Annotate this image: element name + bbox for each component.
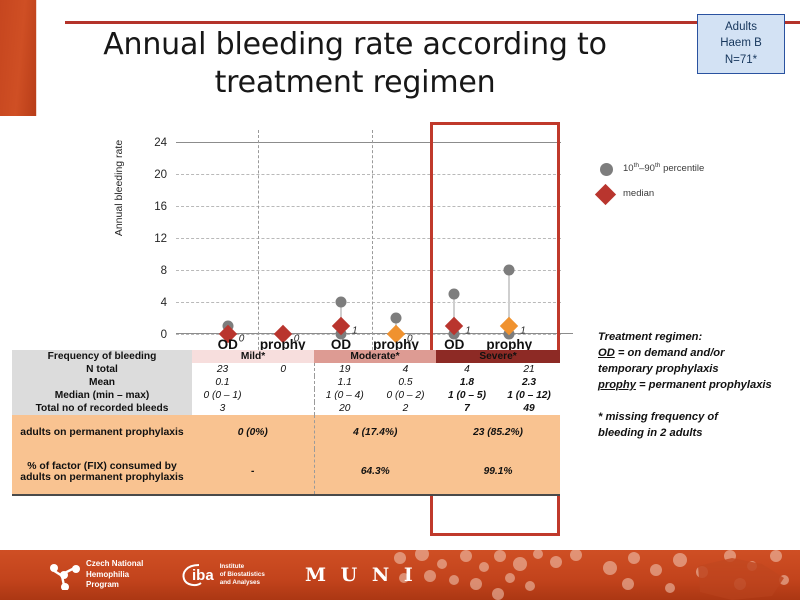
badge-line-1: Adults — [725, 20, 757, 35]
cell-mod-summary: 64.3% — [314, 449, 436, 495]
chart-median-value-label: 1 — [352, 326, 358, 337]
cell-sev-od: 1 (0 – 5) — [436, 389, 498, 402]
cell-mild-od: 23 — [192, 363, 253, 376]
table-bottom-rule — [12, 495, 560, 497]
red-diamond-icon — [595, 184, 616, 205]
row-label-mean: Mean — [12, 376, 192, 389]
logo-iba-line1: Institute — [220, 563, 265, 571]
row-label-total-bleeds: Total no of recorded bleeds — [12, 402, 192, 415]
table-header-rowlabel: Frequency of bleeding — [12, 350, 192, 363]
chart-legend: 10th–90th percentile median — [596, 160, 796, 212]
legend-label-median: median — [623, 188, 654, 199]
chart-gridline: 4 — [176, 302, 561, 303]
cell-mild-summary: 0 (0%) — [192, 415, 314, 449]
table-header-row: Frequency of bleeding Mild* Moderate* Se… — [12, 350, 560, 363]
table-summary-row: adults on permanent prophylaxis 0 (0%) 4… — [12, 415, 560, 449]
chart-median-value-label: 1 — [520, 326, 526, 337]
cohort-badge: Adults Haem B N=71* — [697, 14, 785, 74]
table-header-severe: Severe* — [436, 350, 560, 363]
logo-iba-text: Institute of Biostatistics and Analyses — [220, 563, 265, 588]
cell-mild-prophy: 0 — [253, 363, 314, 376]
chart-y-tick-label: 8 — [161, 265, 167, 277]
legend-item-median: median — [596, 186, 796, 212]
cell-mild-od: 3 — [192, 402, 253, 415]
cell-mod-od: 19 — [314, 363, 375, 376]
chart-gridline: 24 — [176, 142, 561, 143]
cell-mod-prophy: 0.5 — [375, 376, 436, 389]
cell-mod-prophy: 2 — [375, 402, 436, 415]
notes-od-def: = on demand and/or — [615, 347, 725, 359]
page-title: Annual bleeding rate according to treatm… — [60, 26, 650, 103]
notes-spacer — [598, 394, 798, 410]
cell-sev-summary: 99.1% — [436, 449, 560, 495]
cell-sev-prophy: 21 — [498, 363, 560, 376]
slide: Annual bleeding rate according to treatm… — [0, 0, 800, 600]
row-label-n-total: N total — [12, 363, 192, 376]
logo-czech-text: Czech National Hemophilia Program — [86, 559, 143, 590]
badge-line-2: Haem B — [720, 36, 762, 51]
notes-footnote-line1: * missing frequency of — [598, 410, 798, 426]
table-header-mild: Mild* — [192, 350, 314, 363]
annual-bleeding-rate-chart: Annual bleeding rate 048121620240OD0prop… — [108, 130, 578, 345]
chart-y-tick-label: 12 — [154, 233, 167, 245]
table-row: Median (min – max) 0 (0 – 1) 1 (0 – 4) 0… — [12, 389, 560, 402]
legend-label-percentile: 10th–90th percentile — [623, 162, 704, 174]
cell-mild-od: 0.1 — [192, 376, 253, 389]
cell-mild-od: 0 (0 – 1) — [192, 389, 253, 402]
cell-mod-od: 1 (0 – 4) — [314, 389, 375, 402]
cell-mod-summary: 4 (17.4%) — [314, 415, 436, 449]
logo-iba: iba Institute of Biostatistics and Analy… — [178, 550, 265, 600]
table-row: Mean 0.1 1.1 0.5 1.8 2.3 — [12, 376, 560, 389]
cell-mild-prophy — [253, 376, 314, 389]
cell-mild-prophy — [253, 389, 314, 402]
chart-percentile-dot — [391, 313, 402, 324]
legend-item-percentile: 10th–90th percentile — [596, 160, 796, 186]
chart-y-tick-label: 16 — [154, 201, 167, 213]
chart-y-axis-title: Annual bleeding rate — [113, 113, 125, 263]
cell-mod-prophy: 4 — [375, 363, 436, 376]
table-header-moderate: Moderate* — [314, 350, 436, 363]
badge-line-3: N=71* — [725, 53, 757, 68]
molecule-logo-icon — [50, 560, 80, 590]
cell-sev-od: 7 — [436, 402, 498, 415]
treatment-regimen-notes: Treatment regimen: OD = on demand and/or… — [598, 330, 798, 441]
chart-median-value-label: 1 — [465, 326, 471, 337]
row-label-factor-consumed: % of factor (FIX) consumed by adults on … — [12, 449, 192, 495]
chart-plot-area: 048121620240OD0prophy1OD0prophy1OD1proph… — [176, 142, 561, 334]
notes-heading: Treatment regimen: — [598, 330, 798, 346]
chart-percentile-dot — [449, 289, 460, 300]
table-bottom-border-row — [12, 495, 560, 497]
table-row: N total 23 0 19 4 4 21 — [12, 363, 560, 376]
notes-prophy-term: prophy — [598, 379, 636, 391]
iba-wordmark: iba — [192, 567, 214, 584]
notes-od-line: OD = on demand and/or — [598, 346, 798, 362]
table-row: Total no of recorded bleeds 3 20 2 7 49 — [12, 402, 560, 415]
chart-group-separator — [372, 130, 373, 360]
cell-mod-prophy: 0 (0 – 2) — [375, 389, 436, 402]
cell-mod-od: 20 — [314, 402, 375, 415]
chart-group-separator — [258, 130, 259, 360]
logo-czech-line2: Hemophilia — [86, 570, 143, 580]
logo-czech-national-hemophilia-program: Czech National Hemophilia Program — [50, 550, 143, 600]
chart-percentile-dot — [504, 265, 515, 276]
title-divider-rule — [65, 21, 800, 24]
chart-percentile-dot — [336, 297, 347, 308]
chart-gridline: 20 — [176, 174, 561, 175]
notes-prophy-def: = permanent prophylaxis — [636, 379, 772, 391]
chart-y-tick-label: 4 — [161, 297, 167, 309]
molecule-pattern-decoration — [380, 550, 800, 600]
chart-y-tick-label: 0 — [161, 329, 167, 341]
logo-czech-line3: Program — [86, 580, 143, 590]
logo-iba-line3: and Analyses — [220, 579, 265, 587]
bleeding-frequency-table: Frequency of bleeding Mild* Moderate* Se… — [12, 350, 560, 497]
row-label-median: Median (min – max) — [12, 389, 192, 402]
cell-mild-prophy — [253, 402, 314, 415]
cell-sev-od: 1.8 — [436, 376, 498, 389]
cell-sev-summary: 23 (85.2%) — [436, 415, 560, 449]
decorative-left-block — [0, 0, 37, 116]
row-label-adults-prophylaxis: adults on permanent prophylaxis — [12, 415, 192, 449]
chart-gridline: 12 — [176, 238, 561, 239]
cell-sev-od: 4 — [436, 363, 498, 376]
table-summary-row: % of factor (FIX) consumed by adults on … — [12, 449, 560, 495]
gray-circle-icon — [600, 163, 613, 176]
cell-mild-summary: - — [192, 449, 314, 495]
cell-sev-prophy: 1 (0 – 12) — [498, 389, 560, 402]
logo-czech-line1: Czech National — [86, 559, 143, 569]
logo-iba-line2: of Biostatistics — [220, 571, 265, 579]
chart-y-tick-label: 20 — [154, 169, 167, 181]
chart-gridline: 16 — [176, 206, 561, 207]
cell-sev-prophy: 49 — [498, 402, 560, 415]
chart-median-value-label: 0 — [239, 334, 245, 345]
notes-od-term: OD — [598, 347, 615, 359]
footer-bar: Czech National Hemophilia Program iba In… — [0, 550, 800, 600]
notes-prophy-line: prophy = permanent prophylaxis — [598, 378, 798, 394]
notes-footnote-line2: bleeding in 2 adults — [598, 426, 798, 442]
cell-mod-od: 1.1 — [314, 376, 375, 389]
cell-sev-prophy: 2.3 — [498, 376, 560, 389]
chart-y-tick-label: 24 — [154, 137, 167, 149]
notes-od-line2: temporary prophylaxis — [598, 362, 798, 378]
logo-muni: M U N I — [305, 550, 417, 600]
